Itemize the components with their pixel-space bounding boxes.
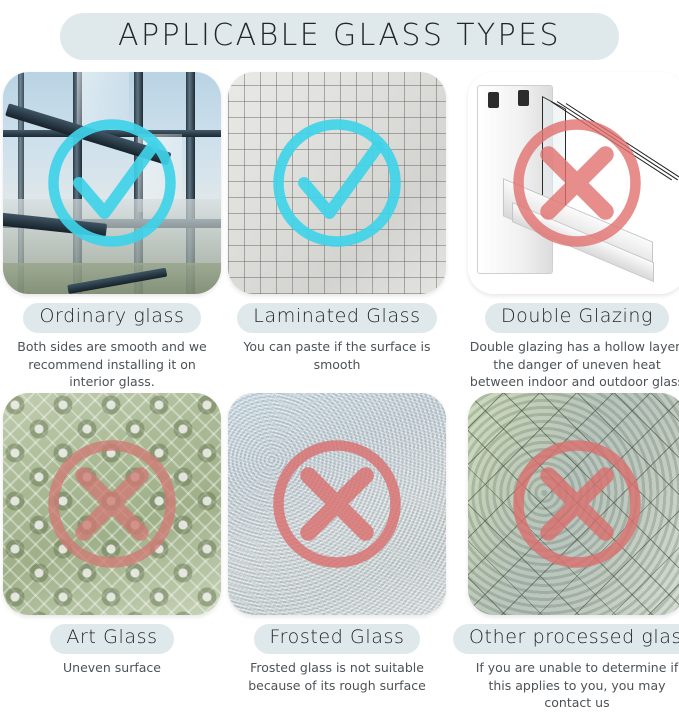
card-label-pill: Double Glazing [485,303,669,333]
glass-type-grid: Ordinary glass Both sides are smooth and… [0,72,679,712]
check-circle-icon [262,108,412,258]
card-label-pill: Laminated Glass [237,303,436,333]
card-image-frosted-glass [228,393,446,615]
card-image-laminated-glass [228,72,446,294]
card-image-other-processed-glass [468,393,679,615]
card-label: Ordinary glass [39,305,184,329]
card-image-ordinary-glass [3,72,221,294]
card-label-pill: Frosted Glass [254,624,421,654]
x-circle-icon [262,429,412,579]
card-description: If you are unable to determine if this a… [466,659,679,712]
card-description: Double glazing has a hollow layer, the d… [466,338,679,391]
card-ordinary-glass[interactable]: Ordinary glass Both sides are smooth and… [3,72,221,391]
card-art-glass[interactable]: Art Glass Uneven surface [3,393,221,712]
card-description: Uneven surface [61,659,163,677]
page-title: APPLICABLE GLASS TYPES [118,19,561,52]
card-label-pill: Other processed glass [453,624,679,654]
card-description: Both sides are smooth and we recommend i… [3,338,221,391]
page-header: APPLICABLE GLASS TYPES [0,0,679,72]
card-label-pill: Ordinary glass [23,303,200,333]
card-description: Frosted glass is not suitable because of… [228,659,446,695]
check-circle-icon [37,108,187,258]
card-double-glazing[interactable]: Double Glazing Double glazing has a holl… [453,72,679,391]
x-circle-icon [502,108,652,258]
card-laminated-glass[interactable]: Laminated Glass You can paste if the sur… [228,72,446,391]
x-circle-icon [37,429,187,579]
card-label: Laminated Glass [253,305,420,329]
card-label: Frosted Glass [270,626,405,650]
card-other-processed-glass[interactable]: Other processed glass If you are unable … [453,393,679,712]
x-circle-icon [502,429,652,579]
card-frosted-glass[interactable]: Frosted Glass Frosted glass is not suita… [228,393,446,712]
card-description: You can paste if the surface is smooth [228,338,446,374]
title-pill: APPLICABLE GLASS TYPES [60,13,619,60]
card-image-art-glass [3,393,221,615]
card-image-double-glazing [468,72,679,294]
card-label: Other processed glass [469,626,679,650]
card-label-pill: Art Glass [50,624,173,654]
card-label: Double Glazing [501,305,653,329]
card-label: Art Glass [66,626,157,650]
